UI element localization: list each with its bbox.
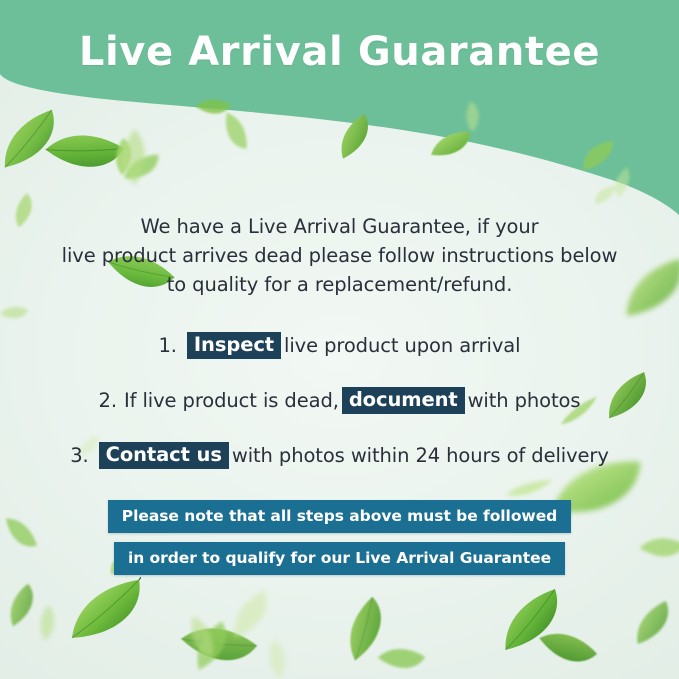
step-highlight-document: document [342,387,465,414]
step-text-1-after: live product upon arrival [284,334,520,357]
intro-paragraph: We have a Live Arrival Guarantee, if you… [54,212,625,299]
steps-list: 1. Inspect live product upon arrival 2. … [0,318,679,483]
step-highlight-inspect: Inspect [187,332,281,359]
step-number-1: 1. [159,334,177,357]
step-text-2-after: with photos [468,389,581,412]
step-text-2-before: If live product is dead, [124,389,339,412]
step-number-3: 3. [70,444,88,467]
step-number-2: 2. [99,389,117,412]
intro-line-1: We have a Live Arrival Guarantee, if you… [54,212,625,241]
note-banner-line-1: Please note that all steps above must be… [108,500,571,533]
step-item-3: 3. Contact us with photos within 24 hour… [0,428,679,483]
step-text-3-after: with photos within 24 hours of delivery [232,444,609,467]
intro-line-2: live product arrives dead please follow … [54,241,625,270]
live-arrival-guarantee-poster: Live Arrival Guarantee [0,0,679,679]
note-banner-line-2: in order to qualify for our Live Arrival… [114,542,565,575]
step-item-2: 2. If live product is dead, document wit… [0,373,679,428]
poster-content: We have a Live Arrival Guarantee, if you… [0,0,679,679]
step-item-1: 1. Inspect live product upon arrival [0,318,679,373]
note-banner-group: Please note that all steps above must be… [0,500,679,575]
intro-line-3: to quality for a replacement/refund. [54,270,625,299]
step-highlight-contact-us: Contact us [99,442,229,469]
